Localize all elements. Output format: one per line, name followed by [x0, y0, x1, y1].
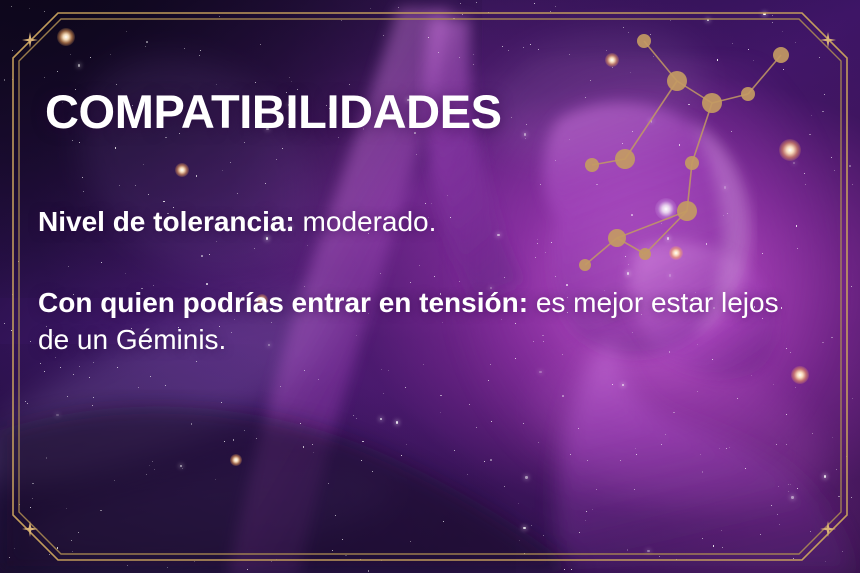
tolerance-value: moderado. [295, 206, 437, 237]
tolerance-line: Nivel de tolerancia: moderado. [38, 203, 436, 240]
tension-label: Con quien podrías entrar en tensión: [38, 287, 528, 318]
zodiac-compatibility-card: COMPATIBILIDADES Nivel de tolerancia: mo… [0, 0, 860, 573]
tolerance-label: Nivel de tolerancia: [38, 206, 295, 237]
text-content: COMPATIBILIDADES Nivel de tolerancia: mo… [0, 0, 860, 573]
page-title: COMPATIBILIDADES [45, 88, 502, 135]
tension-line: Con quien podrías entrar en tensión: es … [38, 284, 798, 358]
